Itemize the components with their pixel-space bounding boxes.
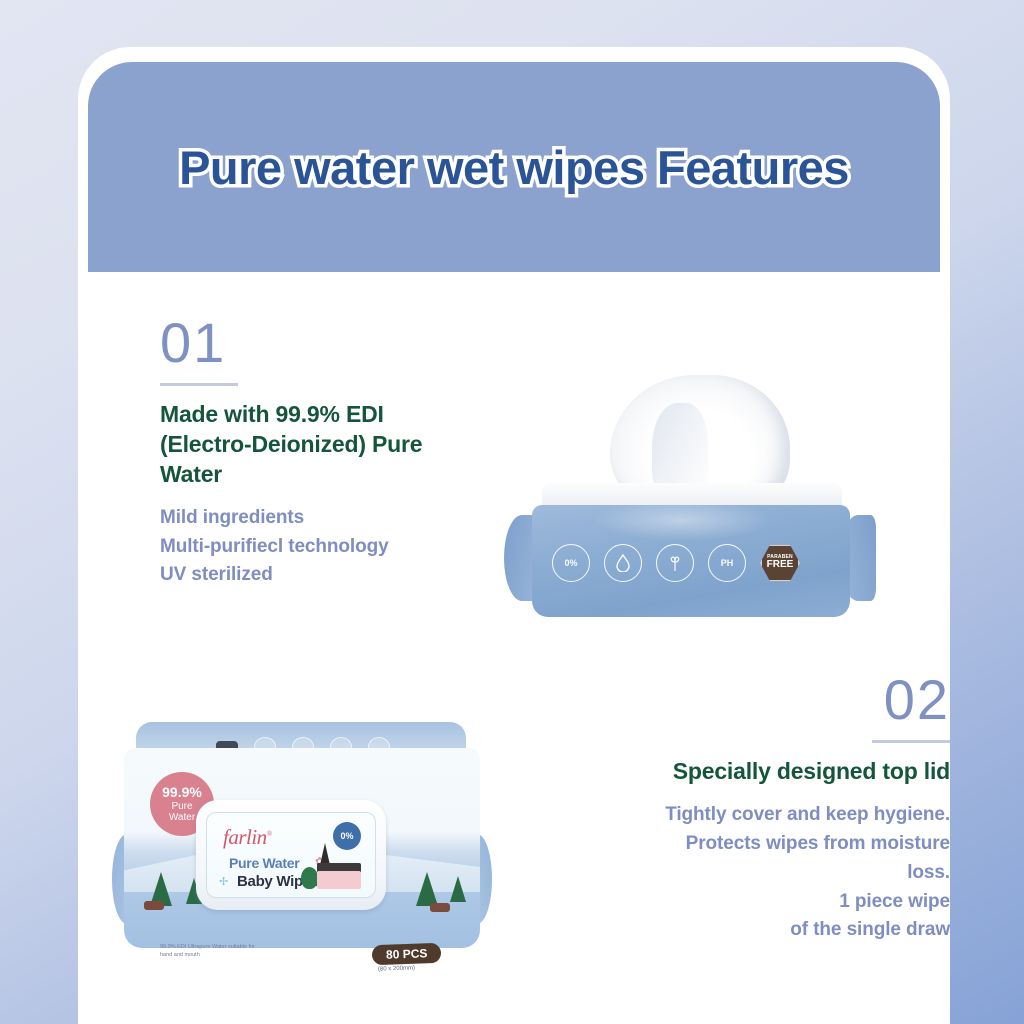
pine-tree-icon [450, 876, 466, 902]
registered-mark: ® [267, 830, 272, 838]
pack-badge-row: 0% PH [552, 543, 832, 583]
brand-text: farlin [223, 825, 267, 849]
water-drop-icon [604, 544, 642, 582]
brand-name: farlin® [223, 825, 272, 850]
feature-02-heading: Specially designed top lid [650, 757, 950, 787]
pack-top-lid: farlin® 0% Pure Water Baby Wipes ✢ ✿ [196, 800, 386, 910]
church-body [317, 871, 361, 889]
ph-label: PH [721, 559, 734, 568]
feature-01-number: 01 [160, 315, 460, 371]
paraben-bottom-label: FREE [767, 560, 794, 571]
feature-card: Pure water wet wipes Features 01 Made wi… [78, 47, 950, 1024]
product-image-lidded-pack: 99.9% EDI Ultrapure Water suitable for h… [98, 672, 650, 945]
feature-01-divider [160, 383, 238, 386]
feature-01-text: 01 Made with 99.9% EDI (Electro-Deionize… [160, 315, 460, 590]
wipes-pack-white: 99.9% EDI Ultrapure Water suitable for h… [110, 714, 500, 969]
wipes-pack-blue: 0% PH [490, 375, 890, 625]
brand-label: farlin® 0% Pure Water Baby Wipes ✢ ✿ [206, 812, 376, 898]
feature-block-02: 99.9% EDI Ultrapure Water suitable for h… [98, 672, 950, 945]
feature-02-number: 02 [650, 672, 950, 728]
bird-icon: ✢ [219, 875, 228, 888]
piece-count-badge: 80 PCS [372, 943, 442, 965]
product-line-1: Pure Water [229, 855, 299, 871]
zero-percent-icon: 0% [552, 544, 590, 582]
ph-balanced-icon: PH [708, 544, 746, 582]
page-title: Pure water wet wipes Features [179, 140, 849, 195]
purity-label: Pure Water [169, 801, 195, 823]
plant-natural-icon [656, 544, 694, 582]
feature-01-heading: Made with 99.9% EDI (Electro-Deionized) … [160, 400, 460, 490]
pack-fine-print: 99.9% EDI Ultrapure Water suitable for h… [160, 944, 260, 960]
zero-percent-label: 0% [564, 559, 577, 568]
log-icon [144, 901, 164, 910]
header-band: Pure water wet wipes Features [88, 62, 940, 272]
zero-percent-badge-icon: 0% [333, 822, 361, 850]
purity-percent: 99.9% [162, 785, 202, 801]
pack-volume-text: (80 x 200mm) [378, 965, 415, 972]
feature-02-body: Tightly cover and keep hygiene. Protects… [650, 801, 950, 945]
paraben-free-icon: PARABEN FREE [760, 544, 800, 582]
log-icon [430, 903, 450, 912]
feature-02-text: 02 Specially designed top lid Tightly co… [650, 672, 950, 945]
feature-block-01: 01 Made with 99.9% EDI (Electro-Deionize… [160, 315, 950, 590]
label-tree-icon [301, 867, 318, 889]
church-illustration [301, 847, 363, 891]
pine-tree-icon [416, 872, 438, 906]
church-spire-icon [320, 843, 330, 865]
feature-01-body: Mild ingredients Multi-purifiecl technol… [160, 504, 460, 591]
product-image-open-pack: 0% PH [460, 315, 950, 590]
feature-02-divider [872, 740, 950, 743]
